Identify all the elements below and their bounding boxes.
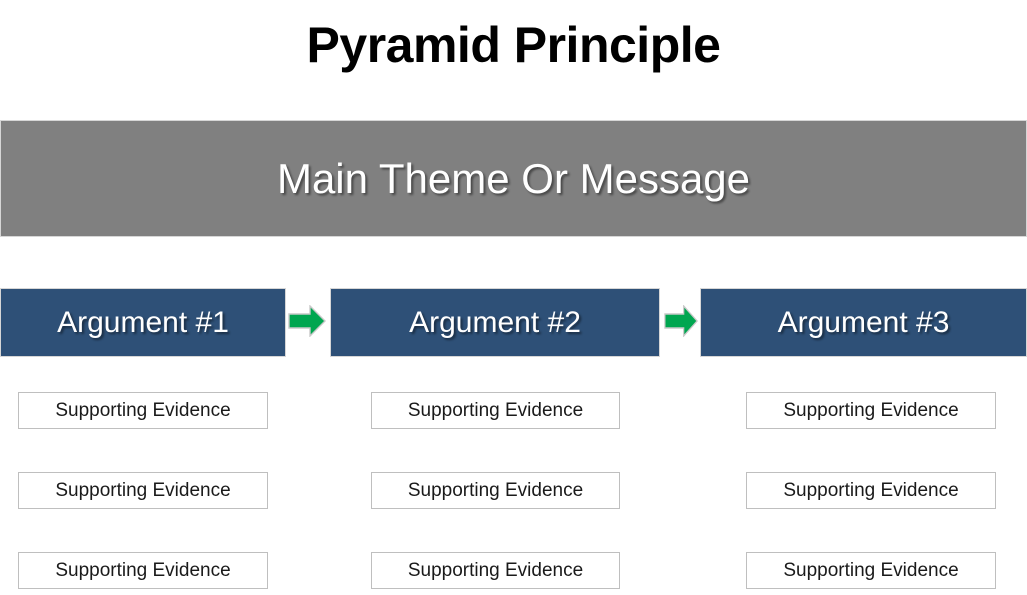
evidence-label: Supporting Evidence bbox=[408, 559, 583, 582]
evidence-box-c1-r3[interactable]: Supporting Evidence bbox=[18, 552, 268, 589]
evidence-label: Supporting Evidence bbox=[783, 559, 958, 582]
evidence-label: Supporting Evidence bbox=[55, 399, 230, 422]
evidence-box-c1-r2[interactable]: Supporting Evidence bbox=[18, 472, 268, 509]
arrow-right-icon bbox=[664, 305, 698, 337]
argument-label-1: Argument #1 bbox=[57, 306, 229, 340]
argument-box-1[interactable]: Argument #1 bbox=[0, 288, 286, 357]
evidence-box-c2-r2[interactable]: Supporting Evidence bbox=[371, 472, 620, 509]
evidence-label: Supporting Evidence bbox=[408, 479, 583, 502]
main-theme-label: Main Theme Or Message bbox=[277, 156, 750, 202]
evidence-box-c3-r2[interactable]: Supporting Evidence bbox=[746, 472, 996, 509]
argument-label-2: Argument #2 bbox=[409, 306, 581, 340]
argument-box-3[interactable]: Argument #3 bbox=[700, 288, 1027, 357]
evidence-label: Supporting Evidence bbox=[55, 479, 230, 502]
evidence-label: Supporting Evidence bbox=[408, 399, 583, 422]
argument-label-3: Argument #3 bbox=[778, 306, 950, 340]
evidence-box-c3-r1[interactable]: Supporting Evidence bbox=[746, 392, 996, 429]
evidence-box-c3-r3[interactable]: Supporting Evidence bbox=[746, 552, 996, 589]
evidence-box-c1-r1[interactable]: Supporting Evidence bbox=[18, 392, 268, 429]
main-theme-banner: Main Theme Or Message bbox=[0, 120, 1027, 237]
evidence-box-c2-r3[interactable]: Supporting Evidence bbox=[371, 552, 620, 589]
arrow-right-icon bbox=[288, 305, 326, 337]
evidence-box-c2-r1[interactable]: Supporting Evidence bbox=[371, 392, 620, 429]
evidence-label: Supporting Evidence bbox=[783, 399, 958, 422]
page-title: Pyramid Principle bbox=[0, 14, 1027, 76]
argument-box-2[interactable]: Argument #2 bbox=[330, 288, 660, 357]
evidence-label: Supporting Evidence bbox=[783, 479, 958, 502]
evidence-label: Supporting Evidence bbox=[55, 559, 230, 582]
